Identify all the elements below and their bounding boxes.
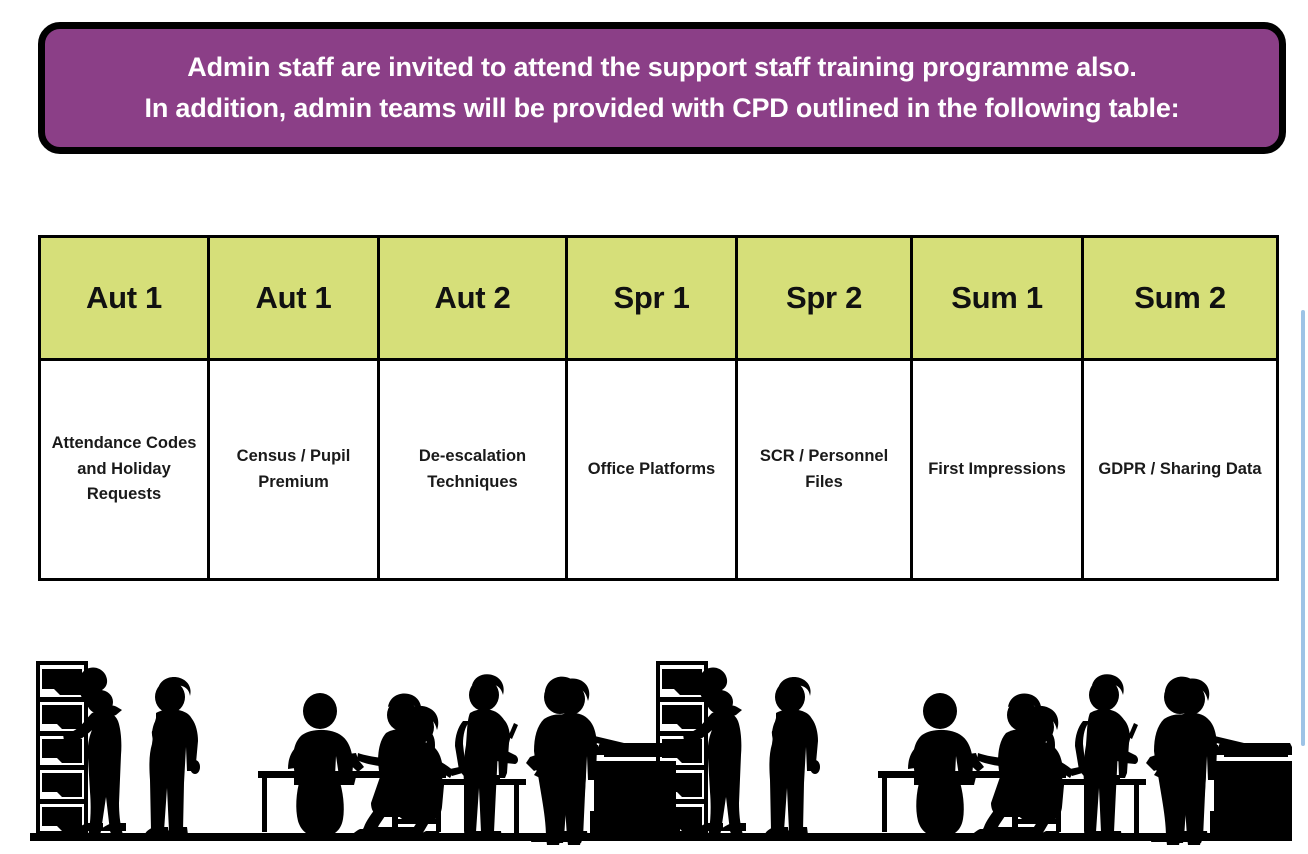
column-header-sum1: Sum 1	[912, 237, 1083, 360]
announcement-banner: Admin staff are invited to attend the su…	[38, 22, 1286, 154]
column-header-spr2: Spr 2	[737, 237, 912, 360]
table-row: Attendance Codes and Holiday Requests Ce…	[40, 360, 1278, 580]
column-header-sum2: Sum 2	[1083, 237, 1278, 360]
cell-aut1-a: Attendance Codes and Holiday Requests	[40, 360, 209, 580]
cell-spr1: Office Platforms	[567, 360, 737, 580]
floor-line	[30, 833, 1292, 841]
cpd-schedule-table: Aut 1 Aut 1 Aut 2 Spr 1 Spr 2 Sum 1 Sum …	[38, 235, 1279, 581]
silhouette-scene-1	[38, 663, 597, 843]
silhouette-scene-3	[658, 663, 1217, 843]
column-header-spr1: Spr 1	[567, 237, 737, 360]
column-header-aut2: Aut 2	[379, 237, 567, 360]
cell-sum2: GDPR / Sharing Data	[1083, 360, 1278, 580]
banner-line-1: Admin staff are invited to attend the su…	[187, 49, 1136, 86]
banner-line-2: In addition, admin teams will be provide…	[145, 90, 1180, 127]
column-header-aut1-b: Aut 1	[209, 237, 379, 360]
cell-aut2: De-escalation Techniques	[379, 360, 567, 580]
cell-sum1: First Impressions	[912, 360, 1083, 580]
vertical-scrollbar[interactable]	[1301, 310, 1305, 746]
cell-aut1-b: Census / Pupil Premium	[209, 360, 379, 580]
column-header-aut1-a: Aut 1	[40, 237, 209, 360]
silhouette-scene-2	[374, 677, 680, 845]
table-header-row: Aut 1 Aut 1 Aut 2 Spr 1 Spr 2 Sum 1 Sum …	[40, 237, 1278, 360]
cell-spr2: SCR / Personnel Files	[737, 360, 912, 580]
office-workers-silhouette-band	[30, 655, 1292, 845]
